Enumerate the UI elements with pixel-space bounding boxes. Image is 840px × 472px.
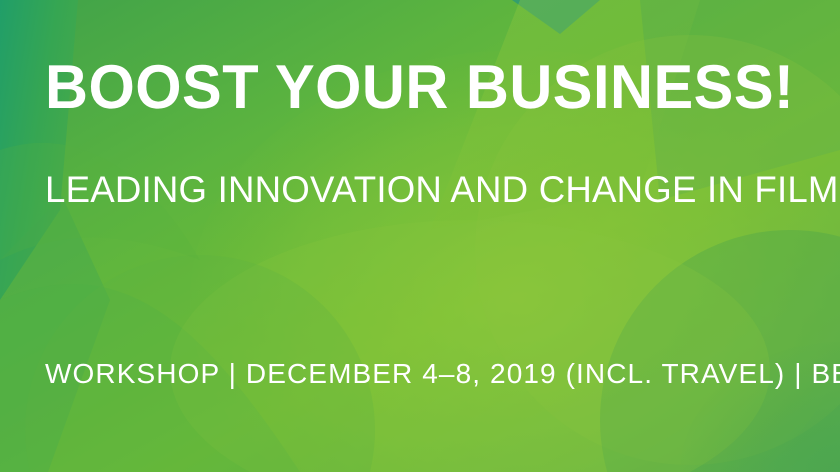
banner-headline: BOOST YOUR BUSINESS!	[45, 57, 794, 119]
banner-subheadline: LEADING INNOVATION AND CHANGE IN FILM AN…	[45, 170, 840, 210]
banner-event-details: WORKSHOP | DECEMBER 4–8, 2019 (INCL. TRA…	[45, 358, 840, 390]
banner-content: BOOST YOUR BUSINESS! LEADING INNOVATION …	[0, 0, 840, 472]
promo-banner: BOOST YOUR BUSINESS! LEADING INNOVATION …	[0, 0, 840, 472]
